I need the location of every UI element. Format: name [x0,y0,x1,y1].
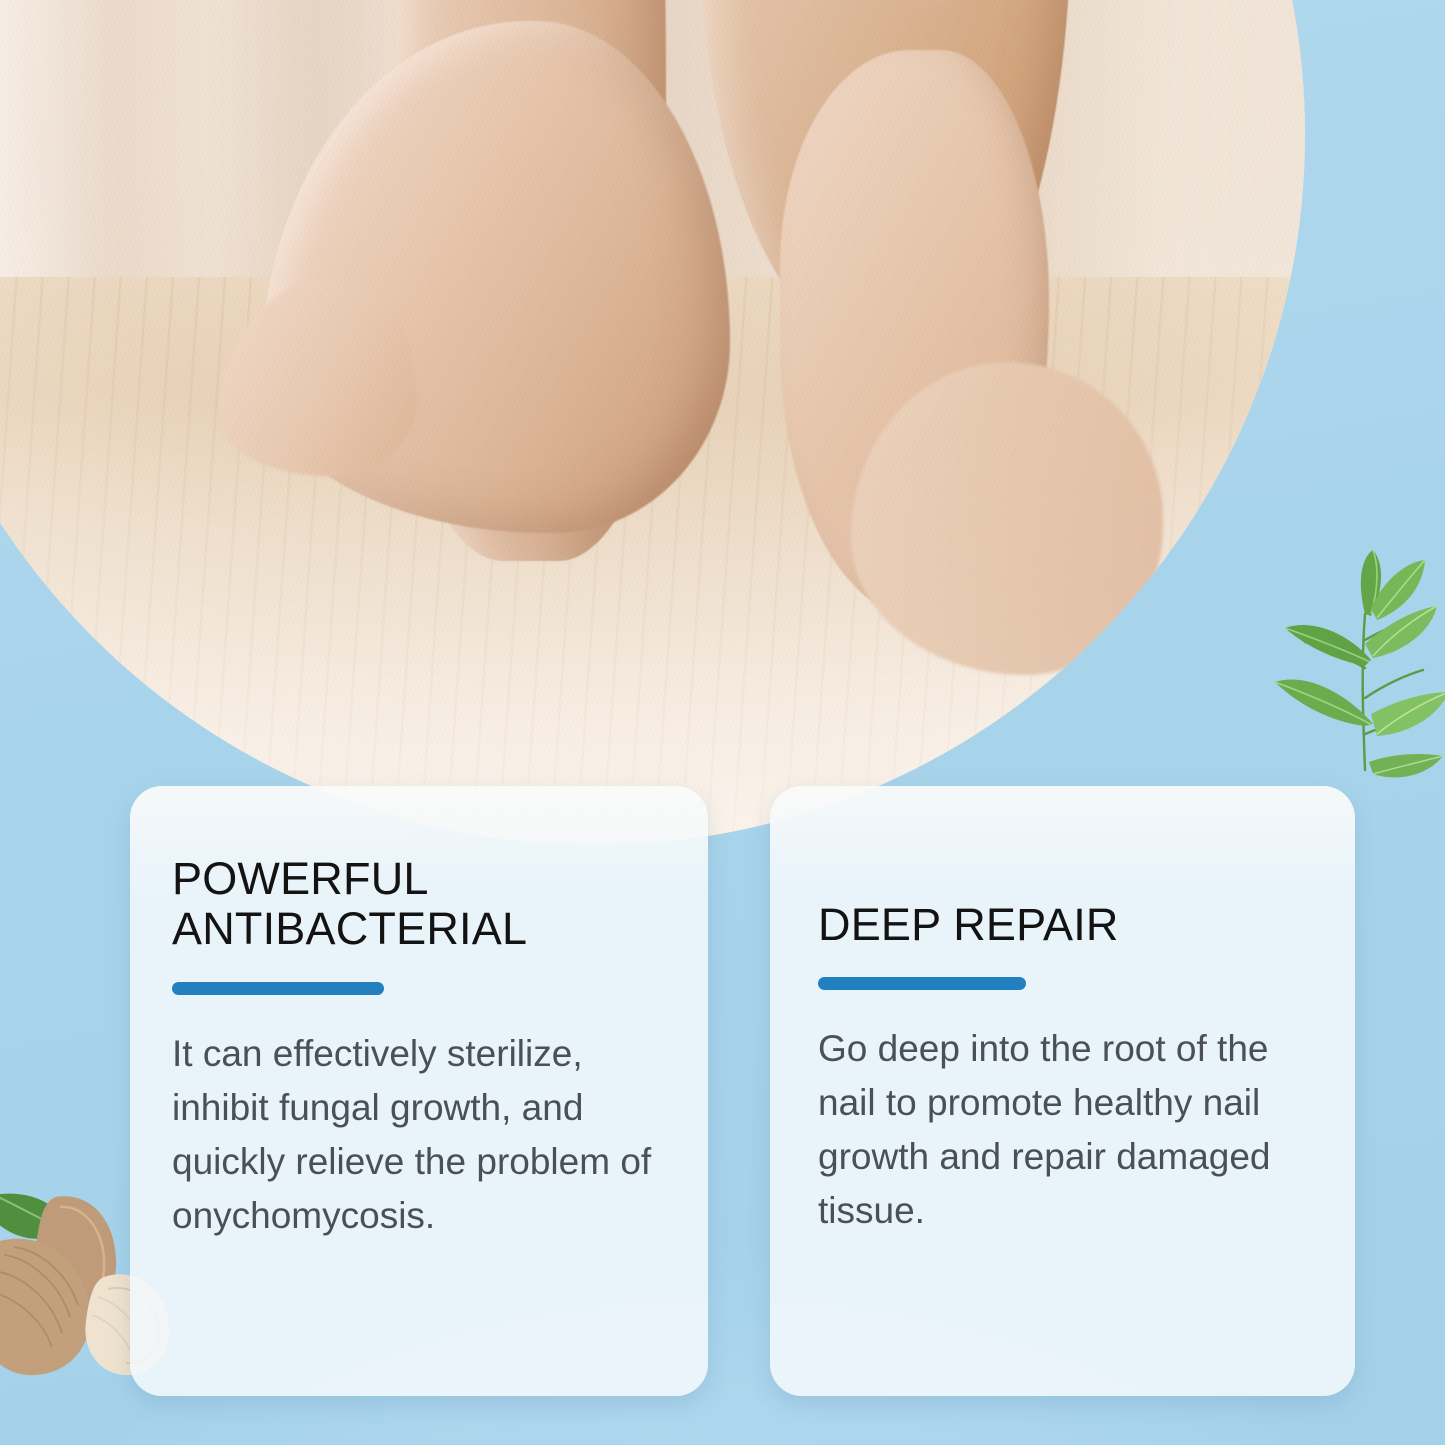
accent-bar [172,982,384,995]
card-content: POWERFUL ANTIBACTERIAL It can effectivel… [130,786,708,1243]
card-title: POWERFUL ANTIBACTERIAL [172,854,662,955]
feature-card-powerful-antibacterial[interactable]: POWERFUL ANTIBACTERIAL It can effectivel… [130,786,708,1396]
card-content: DEEP REPAIR Go deep into the root of the… [770,786,1355,1238]
accent-bar [818,977,1026,990]
card-body-text: It can effectively sterilize, inhibit fu… [172,1027,662,1243]
card-body-text: Go deep into the root of the nail to pro… [818,1022,1309,1238]
infographic-canvas: POWERFUL ANTIBACTERIAL It can effectivel… [0,0,1445,1445]
hero-photo-circle [0,0,1305,845]
photo-vignette [0,0,1305,845]
feature-card-deep-repair[interactable]: DEEP REPAIR Go deep into the root of the… [770,786,1355,1396]
tea-leaves-icon [1261,548,1445,778]
card-title: DEEP REPAIR [818,900,1309,950]
hero-photo [0,0,1305,845]
